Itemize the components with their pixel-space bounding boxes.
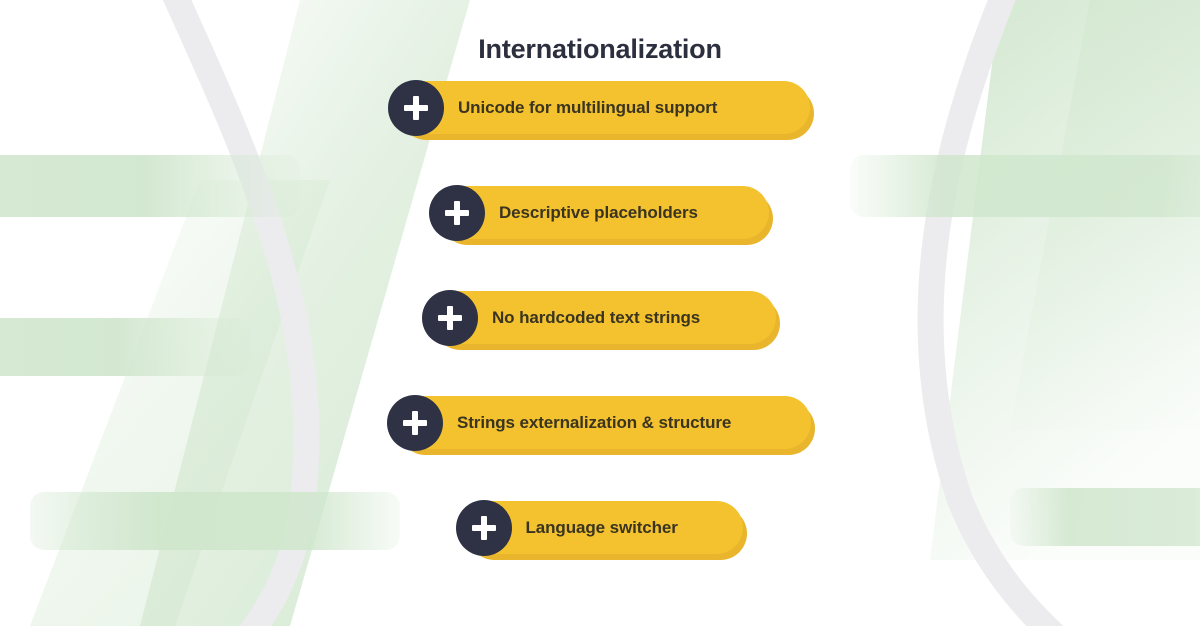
feature-pill-label: No hardcoded text strings [492, 308, 700, 328]
feature-pill-list: Unicode for multilingual support Descrip… [0, 81, 1200, 606]
feature-pill-4[interactable]: Strings externalization & structure [389, 396, 811, 449]
feature-pill-5[interactable]: Language switcher [458, 501, 743, 554]
feature-pill-2[interactable]: Descriptive placeholders [431, 186, 769, 239]
list-item: Language switcher [0, 501, 1200, 606]
plus-icon[interactable] [422, 290, 478, 346]
feature-pill-3[interactable]: No hardcoded text strings [424, 291, 776, 344]
list-item: Unicode for multilingual support [0, 81, 1200, 186]
list-item: Strings externalization & structure [0, 396, 1200, 501]
infographic-canvas: Internationalization Unicode for multili… [0, 0, 1200, 626]
content-area: Internationalization Unicode for multili… [0, 0, 1200, 626]
feature-pill-label: Language switcher [526, 518, 678, 538]
feature-pill-label: Unicode for multilingual support [458, 98, 717, 118]
plus-icon[interactable] [429, 185, 485, 241]
feature-pill-label: Descriptive placeholders [499, 203, 698, 223]
page-title: Internationalization [478, 0, 722, 68]
list-item: Descriptive placeholders [0, 186, 1200, 291]
plus-icon[interactable] [388, 80, 444, 136]
plus-icon[interactable] [387, 395, 443, 451]
feature-pill-1[interactable]: Unicode for multilingual support [390, 81, 810, 134]
feature-pill-label: Strings externalization & structure [457, 413, 731, 433]
list-item: No hardcoded text strings [0, 291, 1200, 396]
plus-icon[interactable] [456, 500, 512, 556]
